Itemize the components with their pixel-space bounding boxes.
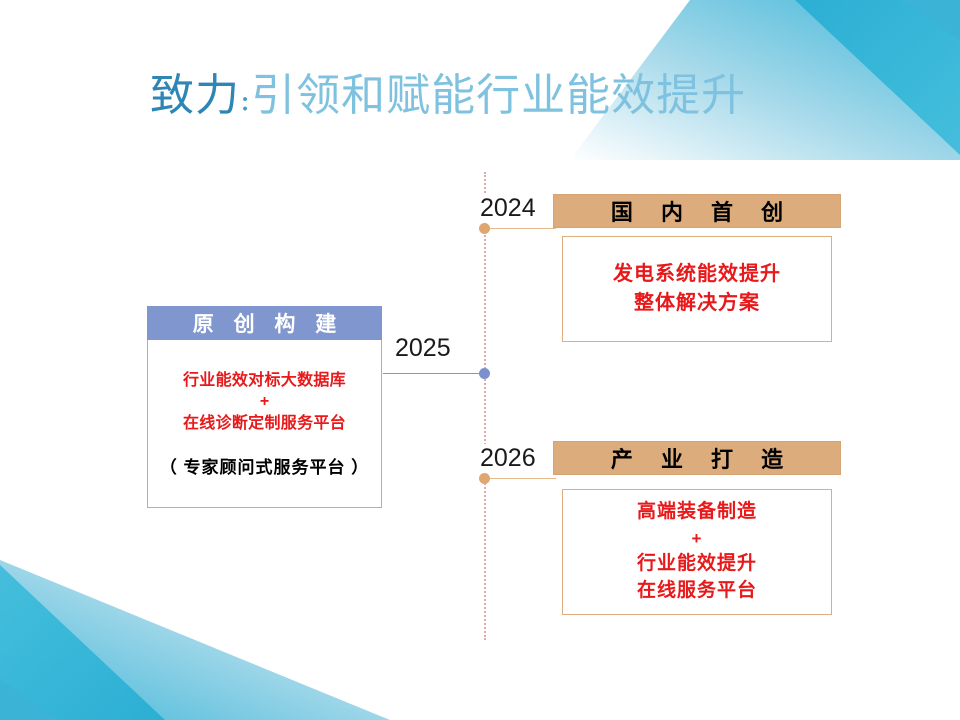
connector-2026 — [486, 478, 556, 479]
card-industry-building-body: 高端装备制造 + 行业能效提升 在线服务平台 — [562, 489, 832, 615]
timeline-axis — [484, 172, 486, 640]
timeline-dot-2025[interactable] — [479, 368, 490, 379]
card-original-construction-header: 原 创 构 建 — [147, 306, 382, 340]
connector-2025 — [383, 373, 486, 374]
year-label-2026: 2026 — [478, 444, 538, 473]
page-title-colon: : — [240, 83, 251, 118]
bottom-left-ribbon-decoration — [0, 560, 420, 720]
year-label-2024: 2024 — [478, 194, 538, 223]
year-label-2025: 2025 — [393, 334, 453, 363]
card-domestic-first[interactable]: 国 内 首 创 发电系统能效提升 整体解决方案 — [553, 194, 841, 228]
bottom-card-line3: 在线服务平台 — [637, 578, 757, 605]
card-industry-building-header: 产 业 打 造 — [553, 441, 841, 475]
page-title: 致力:引领和赋能行业能效提升 — [150, 68, 746, 123]
bottom-card-line1: 高端装备制造 — [637, 499, 757, 526]
top-card-line2: 整体解决方案 — [634, 289, 760, 318]
timeline-dot-2024[interactable] — [479, 223, 490, 234]
left-card-plus: + — [260, 392, 269, 411]
connector-2024 — [486, 228, 556, 229]
left-card-note: （ 专家顾问式服务平台 ） — [160, 453, 369, 478]
timeline-dot-2026[interactable] — [479, 473, 490, 484]
page-title-strong: 致力 — [150, 70, 240, 121]
page-title-rest: 引领和赋能行业能效提升 — [251, 70, 746, 121]
bottom-card-line2: 行业能效提升 — [637, 551, 757, 578]
card-original-construction-body: 行业能效对标大数据库 + 在线诊断定制服务平台 （ 专家顾问式服务平台 ） — [147, 340, 382, 508]
card-domestic-first-header: 国 内 首 创 — [553, 194, 841, 228]
card-domestic-first-body: 发电系统能效提升 整体解决方案 — [562, 236, 832, 342]
card-industry-building[interactable]: 产 业 打 造 高端装备制造 + 行业能效提升 在线服务平台 — [553, 441, 841, 475]
left-card-line2: 在线诊断定制服务平台 — [183, 412, 346, 435]
top-card-line1: 发电系统能效提升 — [613, 260, 781, 289]
bottom-card-plus: + — [692, 526, 703, 552]
left-card-line1: 行业能效对标大数据库 — [183, 369, 346, 392]
card-original-construction[interactable]: 原 创 构 建 行业能效对标大数据库 + 在线诊断定制服务平台 （ 专家顾问式服… — [147, 306, 382, 508]
